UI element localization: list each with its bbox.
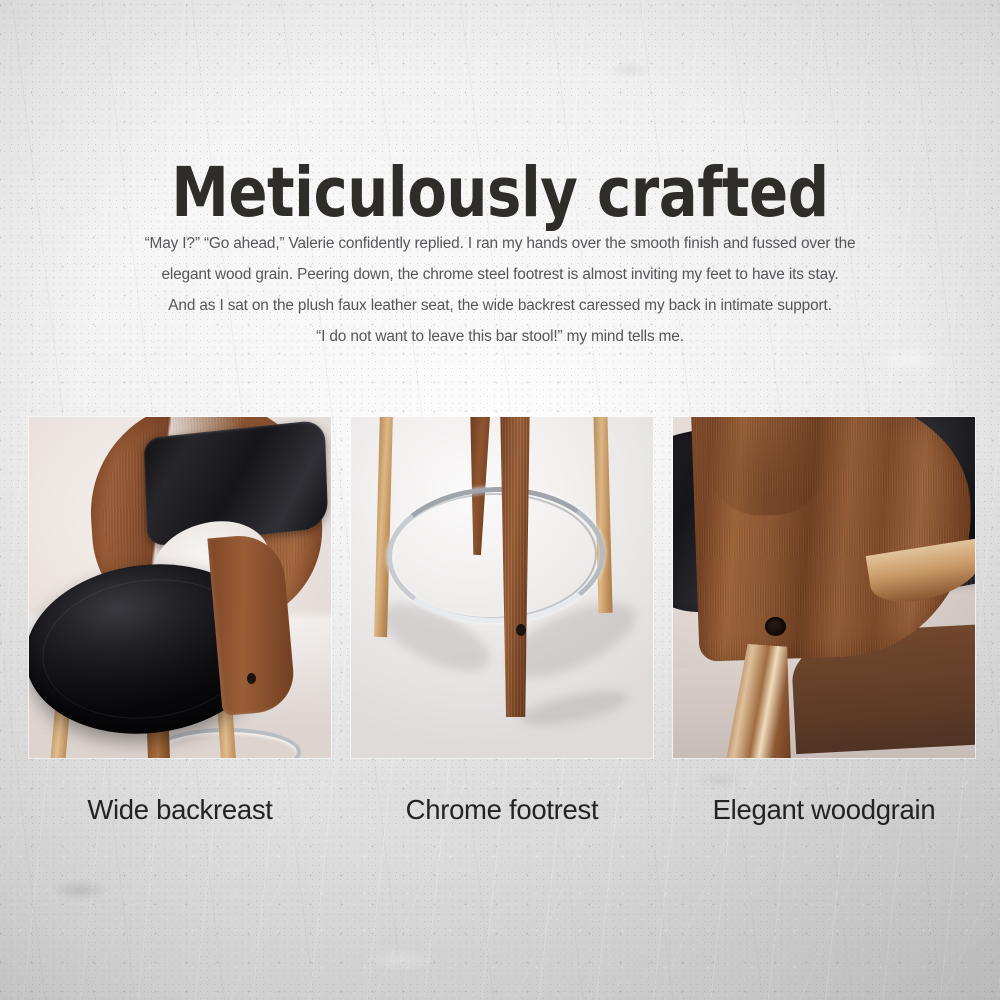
- dowel-hole-icon: [516, 624, 526, 636]
- dowel-hole-icon: [247, 673, 256, 684]
- feature-caption-row: Wide backreast Chrome footrest Elegant w…: [29, 792, 975, 832]
- caption-chrome-footrest: Chrome footrest: [351, 792, 653, 832]
- body-copy: “May I?” “Go ahead,” Valerie confidently…: [50, 228, 950, 352]
- caption-elegant-woodgrain: Elegant woodgrain: [673, 792, 975, 832]
- product-feature-banner: Meticulously crafted “May I?” “Go ahead,…: [0, 0, 1000, 1000]
- dowel-hole-icon: [765, 617, 786, 636]
- body-copy-line-1: “May I?” “Go ahead,” Valerie confidently…: [50, 228, 950, 259]
- feature-photo-elegant-woodgrain: [673, 417, 975, 758]
- feature-photo-wide-backrest: [29, 417, 331, 758]
- caption-wide-backrest: Wide backreast: [29, 792, 331, 832]
- body-copy-line-3: And as I sat on the plush faux leather s…: [50, 290, 950, 321]
- body-copy-line-2: elegant wood grain. Peering down, the ch…: [50, 259, 950, 290]
- feature-photo-chrome-footrest: [351, 417, 653, 758]
- feature-image-row: [29, 417, 975, 758]
- page-title: Meticulously crafted: [35, 159, 965, 228]
- body-copy-line-4: “I do not want to leave this bar stool!”…: [50, 321, 950, 352]
